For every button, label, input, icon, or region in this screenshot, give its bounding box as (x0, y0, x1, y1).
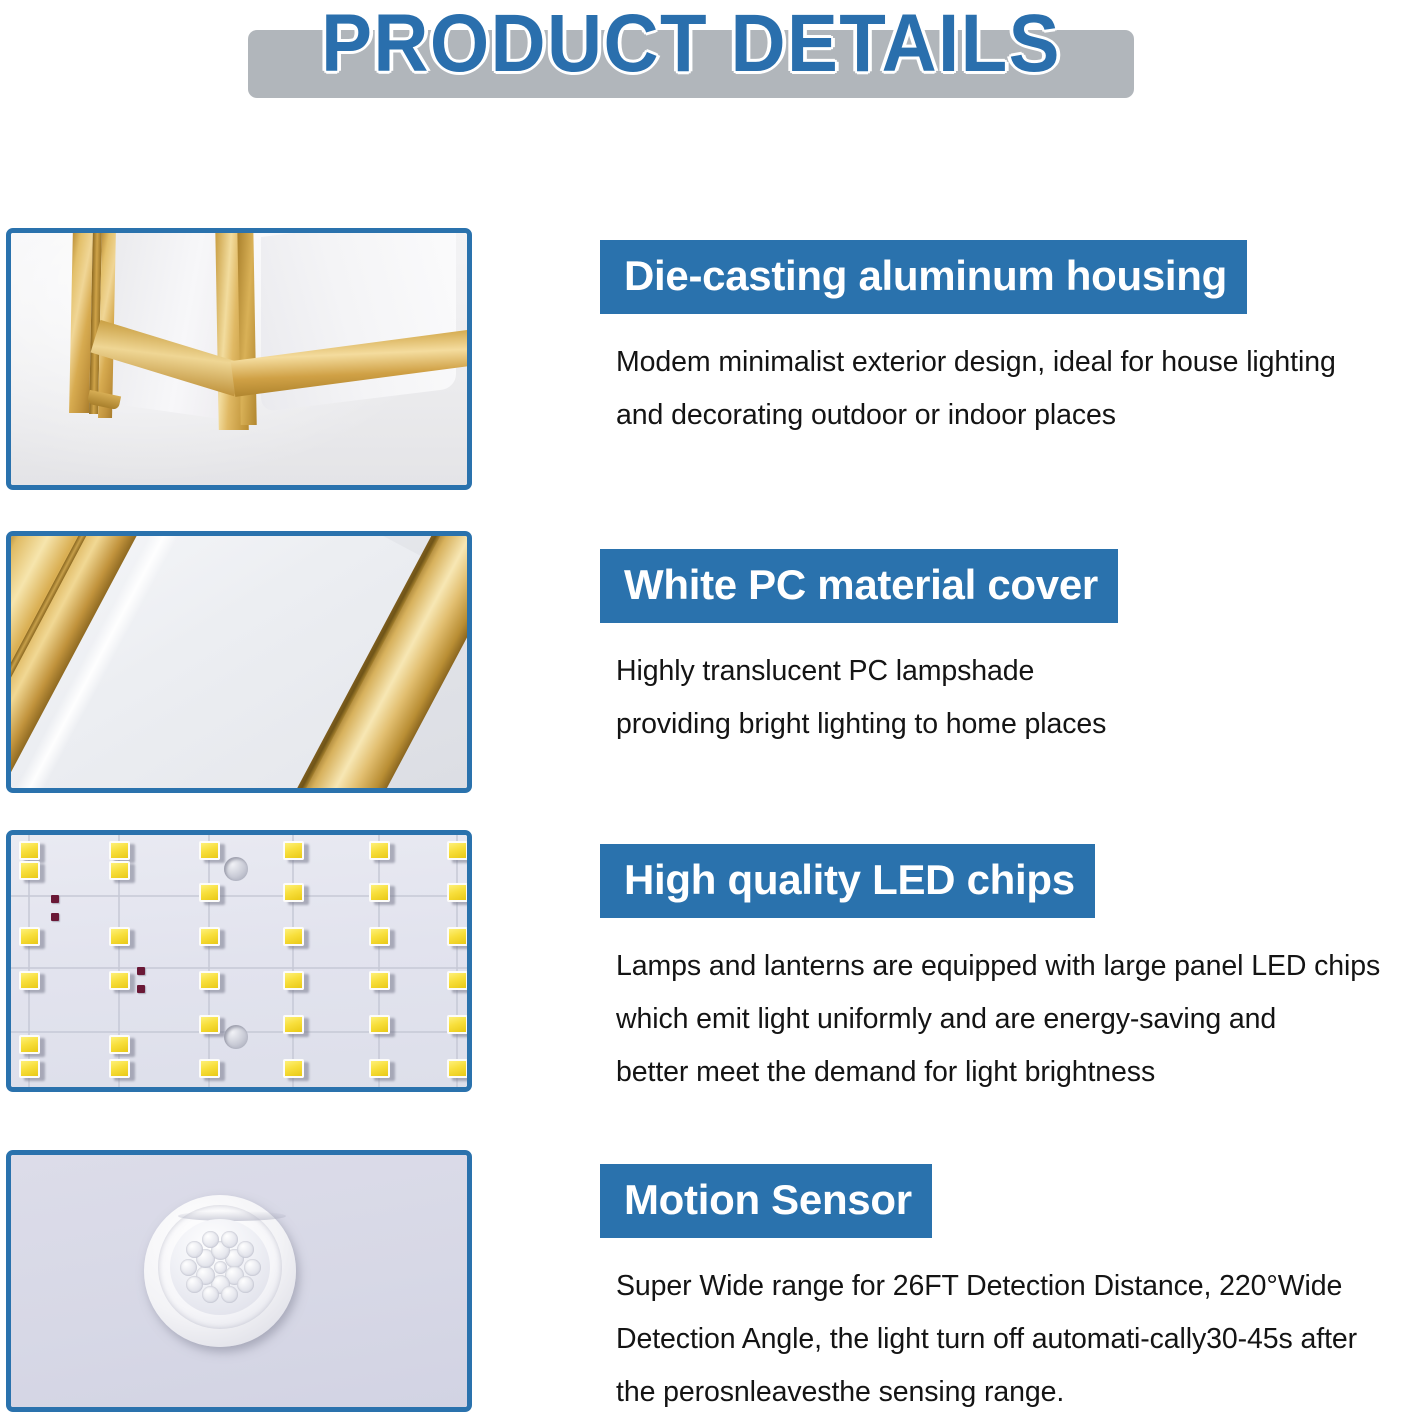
led-chip (199, 927, 220, 946)
led-chip (19, 841, 40, 860)
section-heading-sensor: Motion Sensor (600, 1164, 932, 1238)
body-line: and decorating outdoor or indoor places (616, 389, 1390, 442)
fresnel-facet (237, 1276, 254, 1293)
sensor-housing (144, 1195, 296, 1347)
led-chip (109, 1059, 130, 1078)
housing-text-column: Die-casting aluminum housing Modem minim… (600, 240, 1390, 442)
led-chip (447, 971, 468, 990)
fresnel-facet (221, 1286, 238, 1303)
body-line: providing bright lighting to home places (616, 698, 1390, 751)
cover-text-column: White PC material cover Highly transluce… (600, 549, 1390, 751)
sensor-ring (158, 1205, 282, 1329)
led-chip (19, 1035, 40, 1054)
resistor (137, 985, 145, 993)
cover-illustration (11, 536, 467, 788)
led-chip (369, 841, 390, 860)
pir-motion-sensor-photo (6, 1150, 472, 1412)
resistor (137, 967, 145, 975)
led-chip (283, 927, 304, 946)
body-line: the perosnleavesthe sensing range. (616, 1366, 1390, 1419)
led-chip (369, 883, 390, 902)
pcb-trace (11, 967, 467, 969)
led-chip (109, 861, 130, 880)
led-chip (283, 841, 304, 860)
section-body-cover: Highly translucent PC lampshade providin… (616, 645, 1390, 751)
fresnel-facet (186, 1276, 203, 1293)
section-heading-led: High quality LED chips (600, 844, 1095, 918)
feature-section-led: High quality LED chips Lamps and lantern… (0, 830, 1405, 1096)
sensor-illustration (11, 1155, 467, 1407)
section-heading-housing: Die-casting aluminum housing (600, 240, 1247, 314)
section-body-led: Lamps and lanterns are equipped with lar… (616, 940, 1390, 1099)
resistor (51, 913, 59, 921)
led-chip-board-photo (6, 830, 472, 1092)
fresnel-facet (180, 1259, 197, 1276)
fresnel-facet (237, 1241, 254, 1258)
led-text-column: High quality LED chips Lamps and lantern… (600, 844, 1390, 1099)
led-board-illustration (11, 835, 467, 1087)
body-line: Lamps and lanterns are equipped with lar… (616, 940, 1390, 993)
section-heading-cover: White PC material cover (600, 549, 1118, 623)
body-line: Detection Angle, the light turn off auto… (616, 1313, 1390, 1366)
led-chip (109, 1035, 130, 1054)
led-chip (199, 971, 220, 990)
led-chip (283, 1015, 304, 1034)
section-body-sensor: Super Wide range for 26FT Detection Dist… (616, 1260, 1390, 1419)
led-chip (19, 861, 40, 880)
feature-section-cover: White PC material cover Highly transluce… (0, 531, 1405, 799)
led-chip (19, 927, 40, 946)
body-line: which emit light uniformly and are energ… (616, 993, 1390, 1046)
led-chip (283, 1059, 304, 1078)
led-chip (199, 1015, 220, 1034)
resistor (51, 895, 59, 903)
fresnel-facet (244, 1259, 261, 1276)
fresnel-facet (214, 1261, 227, 1274)
led-chip (447, 1015, 468, 1034)
led-chip (283, 883, 304, 902)
led-chip (447, 841, 468, 860)
mounting-hole (224, 857, 248, 881)
led-chip (199, 883, 220, 902)
pcb-trace (208, 835, 210, 1087)
led-chip (109, 971, 130, 990)
body-line: Super Wide range for 26FT Detection Dist… (616, 1260, 1390, 1313)
led-chip (369, 1015, 390, 1034)
body-line: Highly translucent PC lampshade (616, 645, 1390, 698)
led-chip (447, 927, 468, 946)
led-chip (369, 1059, 390, 1078)
pcb-trace (456, 835, 458, 1087)
gold-lantern-corner-photo (6, 228, 472, 490)
led-chip (19, 1059, 40, 1078)
page-title: PRODUCT DETAILS (279, 0, 1103, 92)
led-chip (283, 971, 304, 990)
section-body-housing: Modem minimalist exterior design, ideal … (616, 336, 1390, 442)
housing-illustration (11, 233, 467, 485)
body-line: better meet the demand for light brightn… (616, 1046, 1390, 1099)
fresnel-facet (221, 1231, 238, 1248)
body-line: Modem minimalist exterior design, ideal … (616, 336, 1390, 389)
led-chip (199, 841, 220, 860)
led-chip (109, 927, 130, 946)
led-chip (369, 927, 390, 946)
led-chip (447, 883, 468, 902)
fresnel-facet (202, 1286, 219, 1303)
fresnel-facet (186, 1241, 203, 1258)
led-chip (199, 1059, 220, 1078)
mounting-hole (224, 1025, 248, 1049)
led-chip (109, 841, 130, 860)
led-chip (447, 1059, 468, 1078)
fresnel-facet (202, 1231, 219, 1248)
feature-section-sensor: Motion Sensor Super Wide range for 26FT … (0, 1150, 1405, 1415)
led-chip (369, 971, 390, 990)
pcb-trace (378, 835, 380, 1087)
feature-section-housing: Die-casting aluminum housing Modem minim… (0, 228, 1405, 496)
pcb-trace (11, 895, 467, 897)
led-chip (19, 971, 40, 990)
sensor-text-column: Motion Sensor Super Wide range for 26FT … (600, 1164, 1390, 1419)
pcb-trace (292, 835, 294, 1087)
sensor-fresnel-dome (170, 1219, 270, 1315)
white-pc-cover-photo (6, 531, 472, 793)
